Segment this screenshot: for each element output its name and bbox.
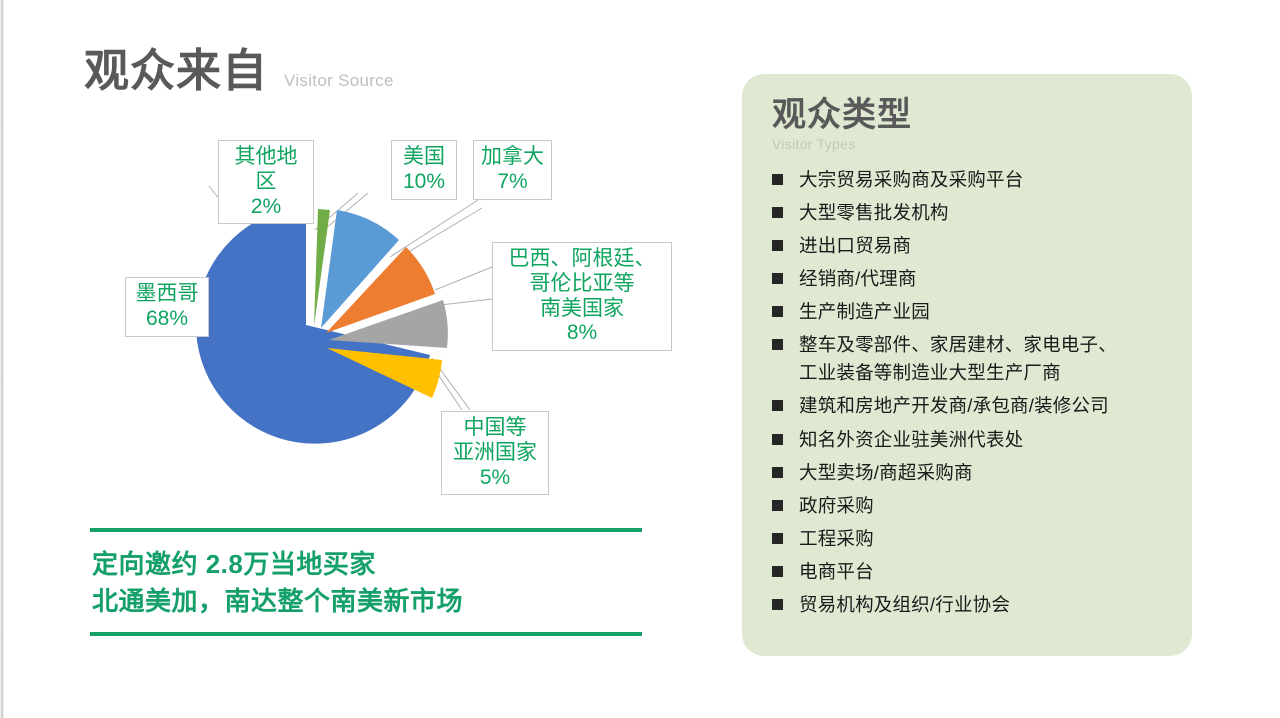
visitor-source-pie-chart: 其他地区 2% 美国 10% 加拿大 7% 巴西、阿根廷、 哥伦比亚等 南美国家…	[110, 120, 700, 520]
page-title: 观众来自 Visitor Source	[84, 48, 394, 93]
visitor-types-panel: 观众类型 Visitor Types 大宗贸易采购商及采购平台 大型零售批发机构…	[742, 74, 1192, 656]
square-bullet-icon	[772, 273, 783, 284]
square-bullet-icon	[772, 566, 783, 577]
list-item: 生产制造产业园	[772, 298, 1166, 326]
panel-title-en: Visitor Types	[772, 136, 1166, 152]
square-bullet-icon	[772, 306, 783, 317]
list-item-label: 知名外资企业驻美洲代表处	[799, 426, 1023, 454]
list-item: 政府采购	[772, 492, 1166, 520]
list-item-label: 大型零售批发机构	[799, 199, 949, 227]
list-item: 整车及零部件、家居建材、家电电子、 工业装备等制造业大型生产厂商	[772, 331, 1166, 387]
list-item: 建筑和房地产开发商/承包商/装修公司	[772, 392, 1166, 420]
pie-label-usa: 美国 10%	[391, 140, 457, 200]
square-bullet-icon	[772, 467, 783, 478]
page-title-cn: 观众来自	[84, 48, 268, 93]
list-item-label: 大型卖场/商超采购商	[799, 459, 973, 487]
list-item: 知名外资企业驻美洲代表处	[772, 426, 1166, 454]
list-item: 贸易机构及组织/行业协会	[772, 591, 1166, 619]
pie-label-south-america: 巴西、阿根廷、 哥伦比亚等 南美国家 8%	[492, 242, 672, 351]
list-item: 大型卖场/商超采购商	[772, 459, 1166, 487]
slide-left-edge	[0, 0, 4, 718]
statement-bottom-rule	[90, 632, 642, 636]
square-bullet-icon	[772, 500, 783, 511]
list-item: 电商平台	[772, 558, 1166, 586]
page-title-en: Visitor Source	[284, 71, 394, 91]
slide-canvas: 观众来自 Visitor Source	[0, 0, 1280, 718]
square-bullet-icon	[772, 434, 783, 445]
panel-title-cn: 观众类型	[772, 98, 1166, 134]
square-bullet-icon	[772, 339, 783, 350]
list-item-label: 进出口贸易商	[799, 232, 911, 260]
pie-label-mexico: 墨西哥 68%	[125, 277, 209, 337]
list-item-label: 工程采购	[799, 525, 874, 553]
list-item: 进出口贸易商	[772, 232, 1166, 260]
pie-label-canada: 加拿大 7%	[473, 140, 552, 200]
list-item-label: 经销商/代理商	[799, 265, 917, 293]
highlight-statement: 定向邀约 2.8万当地买家 北通美加，南达整个南美新市场	[90, 528, 642, 636]
list-item-label: 贸易机构及组织/行业协会	[799, 591, 1010, 619]
pie-label-other: 其他地区 2%	[218, 140, 314, 224]
list-item: 工程采购	[772, 525, 1166, 553]
square-bullet-icon	[772, 240, 783, 251]
square-bullet-icon	[772, 207, 783, 218]
list-item-label: 生产制造产业园	[799, 298, 930, 326]
square-bullet-icon	[772, 599, 783, 610]
list-item-label: 整车及零部件、家居建材、家电电子、 工业装备等制造业大型生产厂商	[799, 331, 1117, 387]
statement-text: 定向邀约 2.8万当地买家 北通美加，南达整个南美新市场	[90, 532, 642, 632]
list-item: 经销商/代理商	[772, 265, 1166, 293]
visitor-types-list: 大宗贸易采购商及采购平台 大型零售批发机构 进出口贸易商 经销商/代理商 生产制…	[772, 166, 1166, 620]
list-item-label: 大宗贸易采购商及采购平台	[799, 166, 1023, 194]
pie-label-asia: 中国等 亚洲国家 5%	[441, 411, 549, 495]
square-bullet-icon	[772, 400, 783, 411]
square-bullet-icon	[772, 533, 783, 544]
list-item: 大型零售批发机构	[772, 199, 1166, 227]
list-item: 大宗贸易采购商及采购平台	[772, 166, 1166, 194]
square-bullet-icon	[772, 174, 783, 185]
list-item-label: 电商平台	[799, 558, 874, 586]
list-item-label: 建筑和房地产开发商/承包商/装修公司	[799, 392, 1109, 420]
list-item-label: 政府采购	[799, 492, 874, 520]
